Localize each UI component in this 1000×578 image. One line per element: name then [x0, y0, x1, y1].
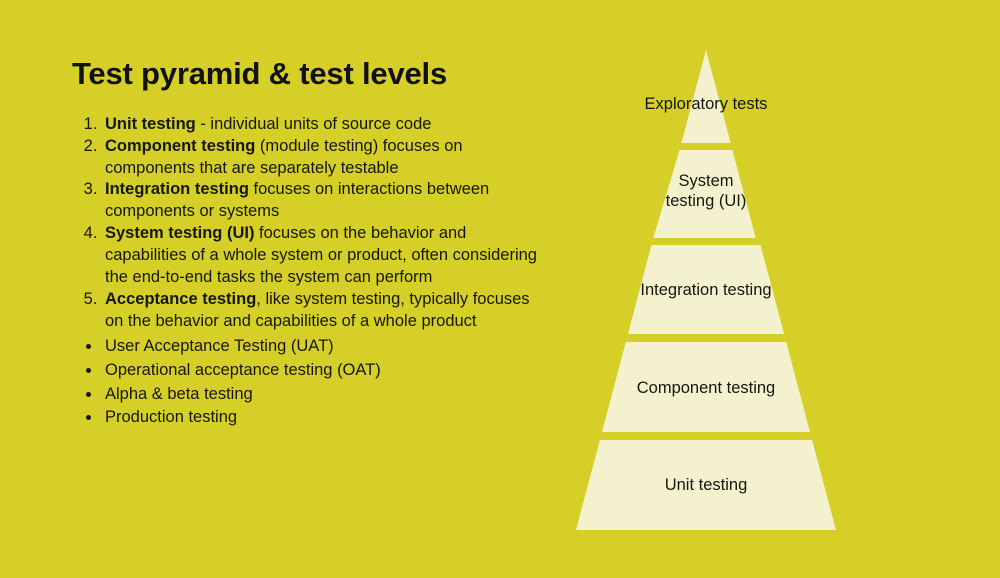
list-item-term: Unit testing [105, 115, 196, 133]
pyramid-shape-svg [440, 40, 980, 550]
list-item-term: Component testing [105, 137, 255, 155]
list-item-description: - individual units of source code [196, 115, 432, 133]
test-pyramid-diagram: Exploratory tests System testing (UI) In… [440, 40, 980, 550]
list-item-term: Integration testing [105, 180, 249, 198]
pyramid-tier-1-shape [681, 50, 730, 143]
pyramid-tier-5-shape [576, 440, 836, 530]
pyramid-tier-4-shape [602, 342, 810, 432]
pyramid-tier-2-shape [653, 150, 755, 238]
list-item-term: System testing (UI) [105, 224, 254, 242]
list-item-term: Acceptance testing [105, 290, 256, 308]
slide-canvas: Test pyramid & test levels Unit testing … [0, 0, 1000, 578]
pyramid-tier-3-shape [628, 245, 784, 334]
